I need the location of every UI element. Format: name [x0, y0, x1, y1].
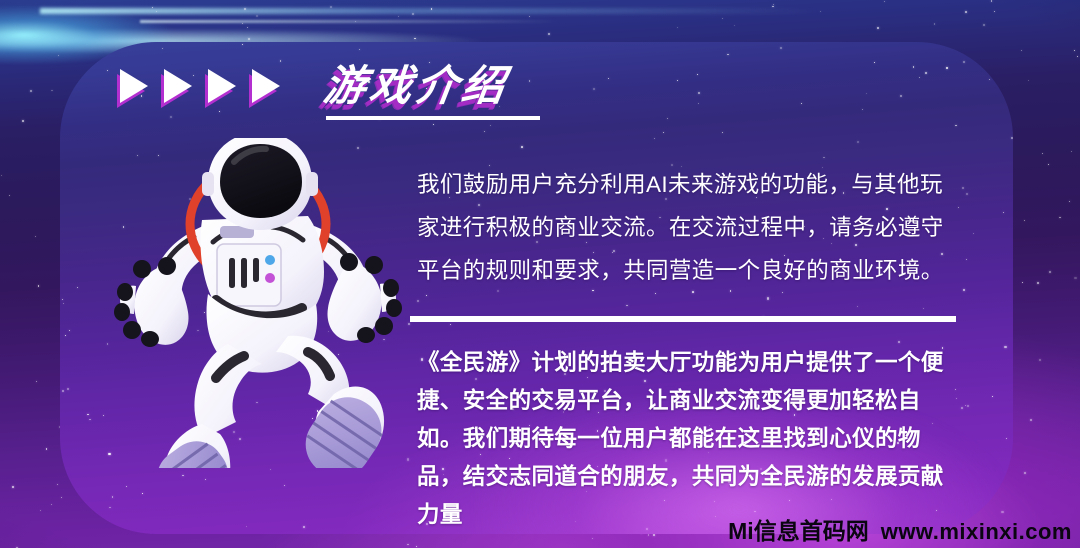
play-triangle-icon — [164, 69, 192, 103]
arrow-group — [120, 69, 280, 103]
auction-paragraph-block: 《全民游》计划的拍卖大厅功能为用户提供了一个便捷、安全的交易平台，让商业交流变得… — [417, 344, 963, 534]
horizontal-light-beam — [40, 8, 820, 14]
play-triangle-icon — [120, 69, 148, 103]
watermark-url: www.mixinxi.com — [881, 519, 1072, 545]
watermark-brand: Mi信息首码网 — [728, 512, 869, 546]
page-title: 游戏介绍 — [321, 65, 511, 107]
intro-paragraph: 我们鼓励用户充分利用AI未来游戏的功能，与其他玩家进行积极的商业交流。在交流过程… — [417, 163, 963, 292]
astronaut-illustration — [112, 138, 402, 468]
section-divider — [410, 316, 956, 322]
title-row: 游戏介绍 — [120, 58, 508, 114]
intro-paragraph-block: 我们鼓励用户充分利用AI未来游戏的功能，与其他玩家进行积极的商业交流。在交流过程… — [417, 163, 963, 292]
title-underline — [326, 116, 540, 120]
watermark: Mi信息首码网 www.mixinxi.com — [728, 512, 1072, 546]
auction-paragraph: 《全民游》计划的拍卖大厅功能为用户提供了一个便捷、安全的交易平台，让商业交流变得… — [417, 344, 963, 534]
poster-canvas: 游戏介绍 — [0, 0, 1080, 548]
horizontal-light-beam-secondary — [140, 20, 560, 23]
page-title-wrap: 游戏介绍 — [324, 65, 508, 107]
play-triangle-icon — [252, 69, 280, 103]
play-triangle-icon — [208, 69, 236, 103]
